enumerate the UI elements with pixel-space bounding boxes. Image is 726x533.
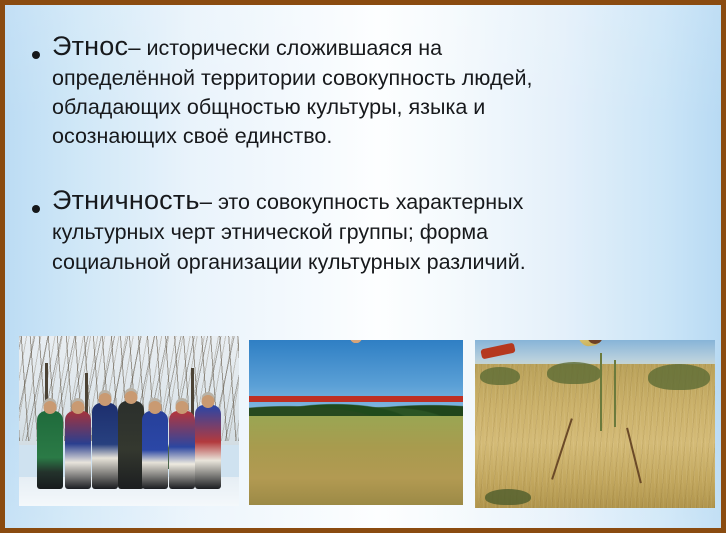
definition-list: Этнос– исторически сложившаяся на опреде…: [5, 32, 721, 277]
slide: Этнос– исторически сложившаяся на опреде…: [0, 0, 726, 533]
photo-1-person-head: [125, 391, 138, 404]
bullet-1-text-line-1: исторически сложившаяся на: [146, 36, 442, 60]
photo-1-person-head: [43, 401, 56, 414]
photo-1-person-head: [175, 401, 188, 414]
photo-3-bush: [485, 489, 531, 505]
bullet-1-line-4: осознающих своё единство.: [52, 122, 721, 151]
dash-2: –: [200, 189, 212, 214]
photo-3-grass-stalk: [614, 360, 616, 427]
photo-1-person: [195, 405, 221, 489]
photo-2-dancer-sash: [249, 396, 463, 402]
photo-northern-peoples: [19, 336, 239, 506]
bullet-dot-icon: [32, 51, 40, 59]
bullet-1-line-2: определённой территории совокупность люд…: [52, 64, 721, 93]
photo-2-field-ground: [249, 416, 463, 505]
bullet-item-etnos: Этнос– исторически сложившаяся на опреде…: [5, 32, 721, 151]
photo-1-person: [92, 403, 118, 489]
term-etnos: Этнос: [52, 31, 128, 61]
photo-3-grass-stalk: [600, 353, 602, 430]
photo-1-person-head: [72, 401, 85, 414]
photo-1-person: [142, 411, 168, 489]
photo-3-bush: [648, 364, 710, 390]
bullet-1-line-3: обладающих общностью культуры, языка и: [52, 93, 721, 122]
bullet-item-etnichnost: Этничность– это совокупность характерных…: [5, 187, 721, 277]
bullet-1-line-1: Этнос– исторически сложившаяся на: [52, 32, 721, 64]
slide-content: Этнос– исторически сложившаяся на опреде…: [5, 32, 721, 277]
photo-1-person-head: [202, 395, 215, 408]
photo-1-person: [65, 411, 91, 489]
photo-1-person: [37, 411, 63, 489]
photo-1-person-head: [149, 401, 162, 414]
photo-1-person-head: [98, 393, 111, 406]
bullet-2-text-line-1: это совокупность характерных: [218, 190, 523, 214]
photo-1-person: [118, 401, 144, 489]
bullet-2-line-2: культурных черт этнической группы; форма: [52, 217, 721, 247]
term-etnichnost: Этничность: [52, 185, 200, 215]
bullet-dot-icon: [32, 205, 40, 213]
photo-slavic-dancers: [249, 340, 463, 505]
bullet-2-line-3: социальной организации культурных различ…: [52, 247, 721, 277]
photo-3-bush: [480, 367, 520, 385]
photo-3-bush: [547, 362, 601, 384]
photo-1-person: [169, 411, 195, 489]
dash-1: –: [128, 35, 140, 60]
photo-african-tribe: [475, 340, 715, 508]
bullet-2-line-1: Этничность– это совокупность характерных: [52, 187, 721, 217]
